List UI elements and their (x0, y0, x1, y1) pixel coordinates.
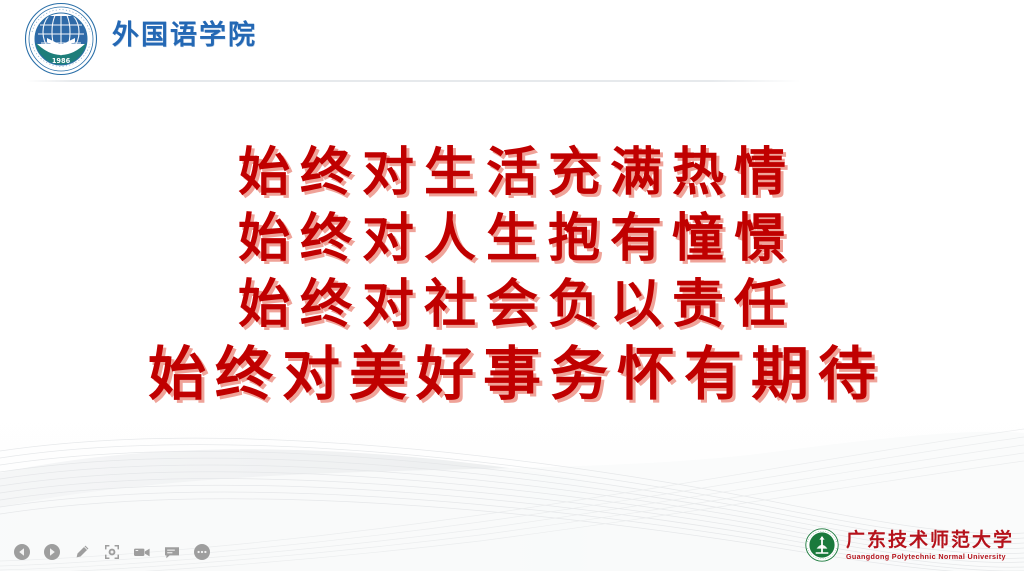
slide-header: 1986 外国语学院 (0, 0, 1024, 84)
next-slide-icon (43, 543, 61, 561)
university-name-block: 广东技术师范大学 Guangdong Polytechnic Normal Un… (846, 530, 1014, 561)
slogan-line-2: 始终对人生抱有憧憬 (0, 206, 1024, 272)
slogan-line-4: 始终对美好事务怀有期待 (0, 338, 1024, 410)
pen-button[interactable] (72, 542, 92, 562)
laser-pointer-button[interactable] (102, 542, 122, 562)
subtitles-button[interactable] (162, 542, 182, 562)
previous-slide-button[interactable] (12, 542, 32, 562)
subtitles-icon (163, 543, 181, 561)
school-name-title: 外国语学院 (112, 20, 257, 52)
record-video-button[interactable] (132, 542, 152, 562)
laser-pointer-icon (103, 543, 121, 561)
emblem-year: 1986 (52, 57, 71, 65)
pen-icon (73, 543, 91, 561)
university-name-en: Guangdong Polytechnic Normal University (846, 552, 1014, 561)
video-camera-icon (132, 543, 152, 561)
school-emblem-icon: 1986 (24, 2, 98, 76)
slogan-block: 始终对生活充满热情 始终对人生抱有憧憬 始终对社会负以责任 始终对美好事务怀有期… (0, 140, 1024, 410)
previous-slide-icon (13, 543, 31, 561)
slogan-line-1: 始终对生活充满热情 (0, 140, 1024, 206)
university-name-cn: 广东技术师范大学 (846, 530, 1014, 551)
university-seal-icon (805, 528, 839, 562)
header-divider (26, 80, 801, 82)
more-options-button[interactable] (192, 542, 212, 562)
presenter-toolbar[interactable] (12, 541, 212, 563)
more-options-icon (193, 543, 211, 561)
university-branding: 广东技术师范大学 Guangdong Polytechnic Normal Un… (805, 525, 1014, 565)
next-slide-button[interactable] (42, 542, 62, 562)
presentation-slide: 1986 外国语学院 始终对生活充满热情 始终对人生抱有憧憬 始终对社会负以责任… (0, 0, 1024, 571)
slogan-line-3: 始终对社会负以责任 (0, 272, 1024, 338)
